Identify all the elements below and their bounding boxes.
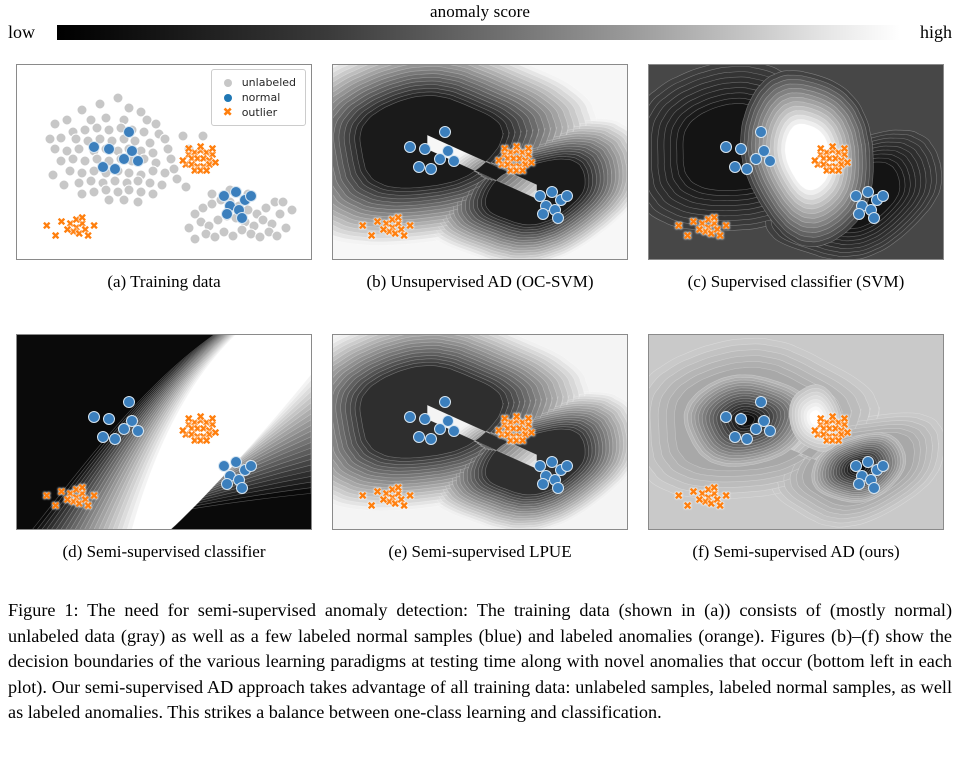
colorbar-low-label: low (8, 22, 35, 43)
caption-panel-b: (b) Unsupervised AD (OC-SVM) (320, 272, 640, 292)
panel-c-supervised-classifier: ✖✖✖✖✖✖✖✖✖✖✖✖✖✖✖✖✖✖✖✖✖✖✖✖✖✖✖✖✖✖✖✖✖✖✖✖ (648, 64, 944, 260)
legend-symbol-normal (219, 90, 237, 105)
caption-panel-d: (d) Semi-supervised classifier (4, 542, 324, 562)
caption-panel-a: (a) Training data (4, 272, 324, 292)
panel-f-semi-supervised-ad-ours: ✖✖✖✖✖✖✖✖✖✖✖✖✖✖✖✖✖✖✖✖✖✖✖✖✖✖✖✖✖✖✖✖✖✖✖✖ (648, 334, 944, 530)
legend-label-normal: normal (242, 90, 281, 105)
caption-panel-c: (c) Supervised classifier (SVM) (636, 272, 956, 292)
colorbar: anomaly score low high (0, 0, 960, 50)
figure-caption: Figure 1: The need for semi-supervised a… (8, 598, 952, 726)
legend-symbol-unlabeled (219, 75, 237, 90)
legend-label-outlier: outlier (242, 105, 277, 120)
plot-surface-e (333, 335, 627, 529)
panel-b-unsupervised-ad: ✖✖✖✖✖✖✖✖✖✖✖✖✖✖✖✖✖✖✖✖✖✖✖✖✖✖✖✖✖✖✖✖✖✖✖✖ (332, 64, 628, 260)
colorbar-gradient (57, 25, 900, 40)
plot-surface-c (649, 65, 943, 259)
legend-symbol-outlier: ✖ (219, 105, 237, 120)
legend-item-unlabeled: unlabeled (219, 75, 296, 90)
plot-surface-d (17, 335, 311, 529)
colorbar-title: anomaly score (0, 2, 960, 22)
plot-surface-b (333, 65, 627, 259)
legend-item-normal: normal (219, 90, 296, 105)
panel-a-training-data: ✖✖✖✖✖✖✖✖✖✖✖✖✖✖✖✖✖✖✖✖✖✖✖✖✖✖✖✖✖✖✖✖✖✖✖✖ unl… (16, 64, 312, 260)
legend-label-unlabeled: unlabeled (242, 75, 296, 90)
colorbar-high-label: high (920, 22, 952, 43)
legend: unlabeled normal ✖ outlier (211, 69, 306, 126)
panel-e-semi-supervised-lpue: ✖✖✖✖✖✖✖✖✖✖✖✖✖✖✖✖✖✖✖✖✖✖✖✖✖✖✖✖✖✖✖✖✖✖✖✖ (332, 334, 628, 530)
caption-panel-f: (f) Semi-supervised AD (ours) (636, 542, 956, 562)
panel-d-semi-supervised-classifier: ✖✖✖✖✖✖✖✖✖✖✖✖✖✖✖✖✖✖✖✖✖✖✖✖✖✖✖✖✖✖✖✖✖✖✖✖ (16, 334, 312, 530)
caption-panel-e: (e) Semi-supervised LPUE (320, 542, 640, 562)
legend-item-outlier: ✖ outlier (219, 105, 296, 120)
plot-surface-f (649, 335, 943, 529)
